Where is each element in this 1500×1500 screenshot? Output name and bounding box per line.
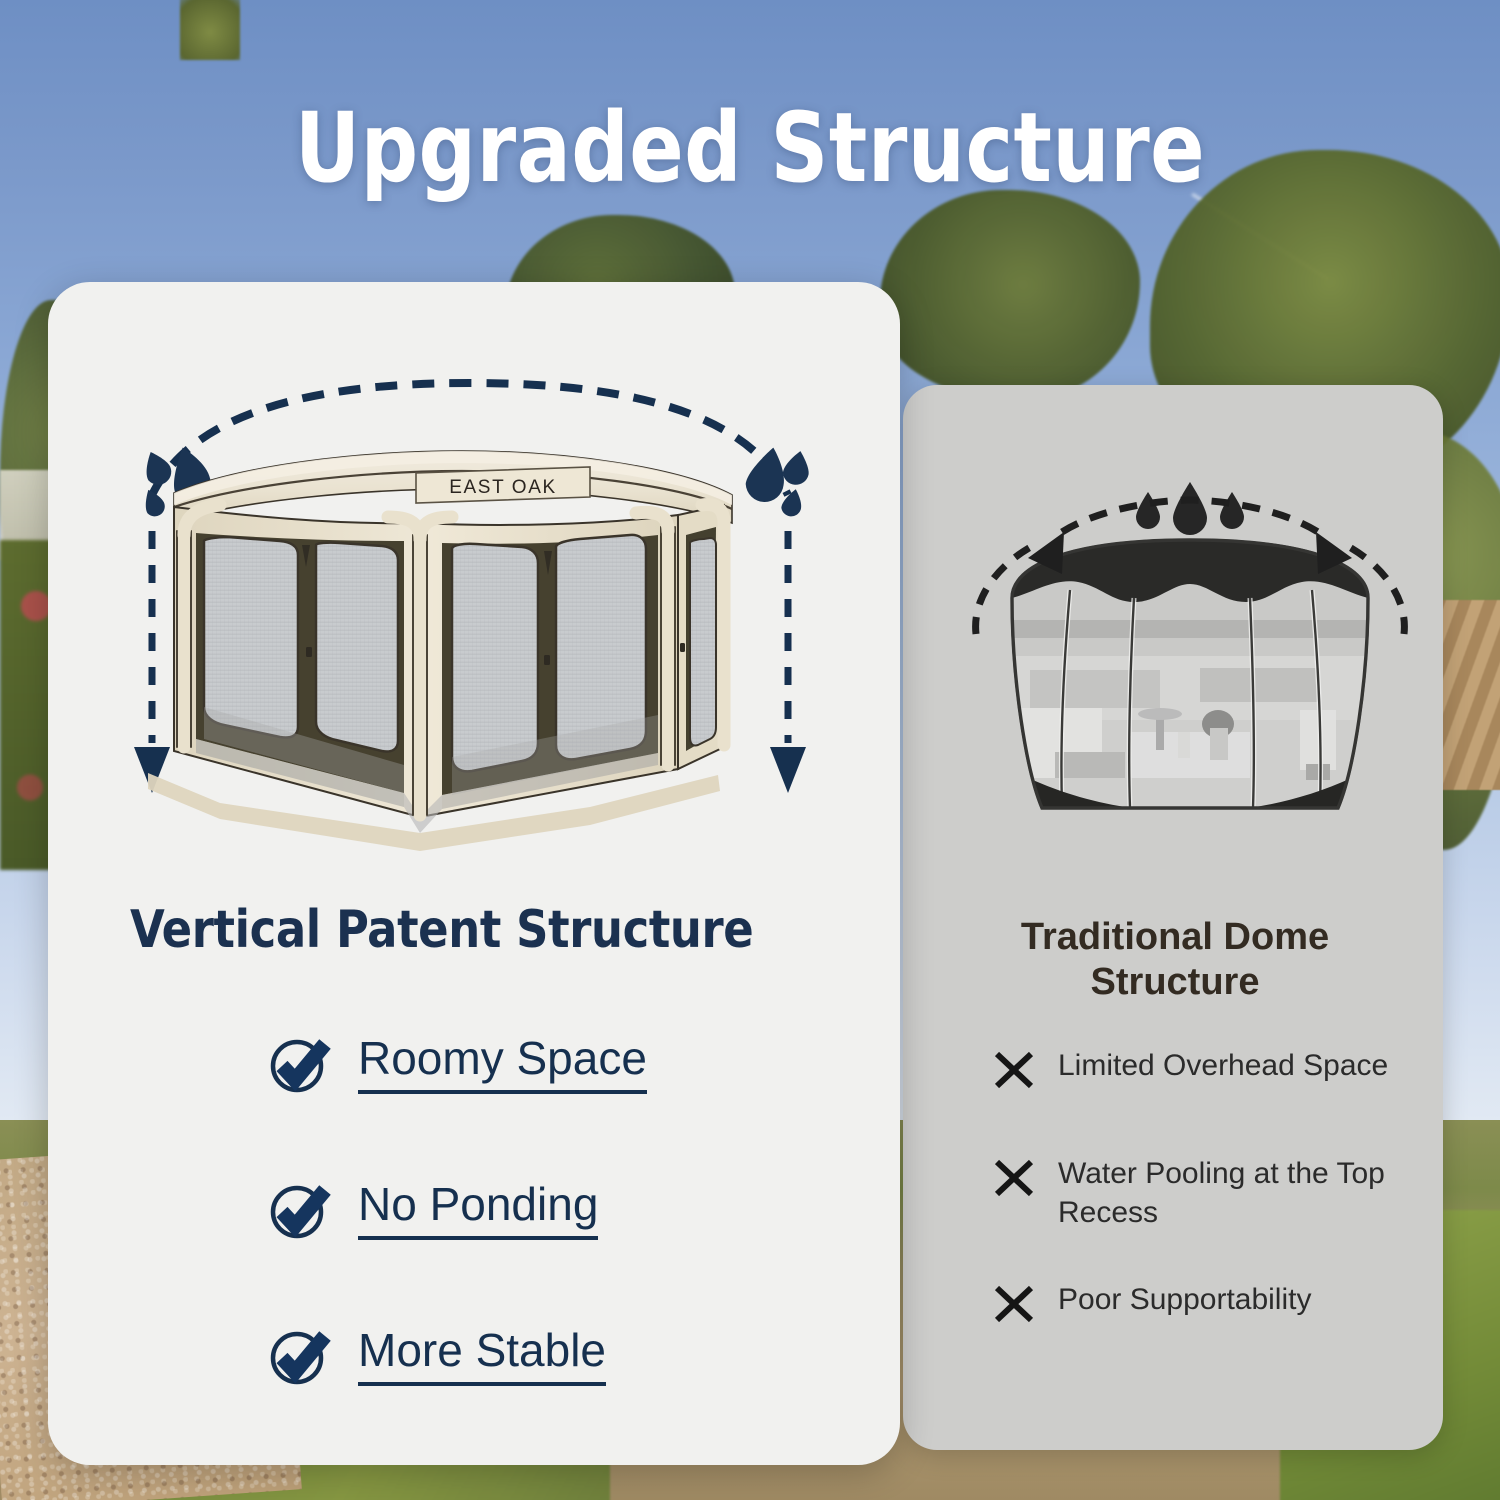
traditional-dome-structure-tent <box>950 470 1430 855</box>
con-label: Poor Supportability <box>1058 1280 1311 1319</box>
feature-label: No Ponding <box>358 1180 598 1239</box>
x-mark-icon <box>992 1156 1036 1200</box>
hex-gazebo-tent: EAST OAK <box>148 451 732 851</box>
list-item: More Stable <box>268 1320 788 1392</box>
traditional-dome-heading-line1: Traditional Dome <box>930 915 1420 960</box>
vertical-patent-heading: Vertical Patent Structure <box>130 900 802 960</box>
check-circle-icon <box>268 1325 330 1387</box>
list-item: No Ponding <box>268 1174 788 1246</box>
water-droplet-group <box>1136 482 1244 535</box>
dome-tent-body <box>1000 540 1390 815</box>
tree <box>880 190 1140 400</box>
con-label: Limited Overhead Space <box>1058 1046 1388 1085</box>
vertical-patent-structure-tent: EAST OAK <box>120 355 820 855</box>
check-circle-icon <box>268 1179 330 1241</box>
check-circle-icon <box>268 1033 330 1095</box>
twig <box>180 0 240 60</box>
runoff-arrow-right-head <box>770 747 806 793</box>
mesh-panel <box>452 544 538 772</box>
list-item: Water Pooling at the Top Recess <box>992 1154 1412 1232</box>
mesh-panel <box>690 538 716 746</box>
list-item: Limited Overhead Space <box>992 1046 1412 1090</box>
mesh-panel <box>204 537 298 738</box>
mesh-panel <box>316 543 398 752</box>
feature-label: More Stable <box>358 1326 606 1385</box>
water-droplet-group-right <box>742 443 814 519</box>
x-mark-icon <box>992 1048 1036 1092</box>
traditional-dome-heading-line2: Structure <box>930 960 1420 1005</box>
feature-label: Roomy Space <box>358 1034 647 1093</box>
page-title: Upgraded Structure <box>53 92 1448 204</box>
con-label: Water Pooling at the Top Recess <box>1058 1154 1408 1232</box>
traditional-dome-heading: Traditional Dome Structure <box>930 915 1420 1005</box>
list-item: Poor Supportability <box>992 1280 1412 1324</box>
traditional-dome-con-list: Limited Overhead Space Water Pooling at … <box>992 1046 1412 1324</box>
brand-label: EAST OAK <box>449 477 557 498</box>
vertical-patent-feature-list: Roomy Space No Ponding More Stable <box>268 1028 788 1392</box>
x-mark-icon <box>992 1282 1036 1326</box>
list-item: Roomy Space <box>268 1028 788 1100</box>
